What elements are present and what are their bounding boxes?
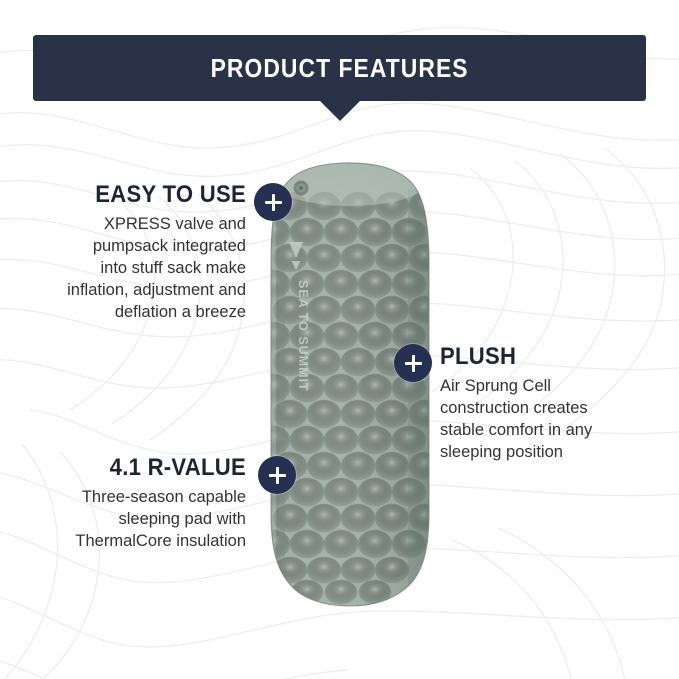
- xpress-valve-icon: [294, 181, 309, 196]
- feature-plush: PLUSH Air Sprung Cell construction creat…: [440, 344, 630, 464]
- feature-heading-easy-to-use: EASY TO USE: [77, 182, 246, 207]
- feature-heading-r-value: 4.1 R-VALUE: [77, 455, 246, 480]
- plus-icon-vertical: [412, 355, 415, 372]
- plus-marker-easy-to-use[interactable]: [254, 183, 292, 221]
- feature-easy-to-use: EASY TO USE XPRESS valve and pumpsack in…: [62, 182, 246, 324]
- banner-notch: [319, 100, 361, 121]
- feature-body-plush: Air Sprung Cell construction creates sta…: [440, 376, 630, 464]
- sleeping-pad-image: SEA TO SUMMIT: [258, 160, 440, 616]
- feature-heading-plush: PLUSH: [440, 344, 615, 369]
- plus-marker-r-value[interactable]: [258, 456, 296, 494]
- product-features-banner: PRODUCT FEATURES: [33, 35, 646, 101]
- infographic-root: PRODUCT FEATURES: [0, 0, 679, 679]
- sea-to-summit-brand-text: SEA TO SUMMIT: [296, 280, 310, 392]
- plus-icon-vertical: [272, 194, 275, 211]
- plus-marker-plush[interactable]: [394, 344, 432, 382]
- feature-r-value: 4.1 R-VALUE Three-season capable sleepin…: [62, 455, 246, 553]
- feature-body-r-value: Three-season capable sleeping pad with T…: [62, 487, 246, 553]
- plus-icon-vertical: [276, 467, 279, 484]
- banner-title: PRODUCT FEATURES: [210, 53, 468, 84]
- feature-body-easy-to-use: XPRESS valve and pumpsack integrated int…: [62, 214, 246, 324]
